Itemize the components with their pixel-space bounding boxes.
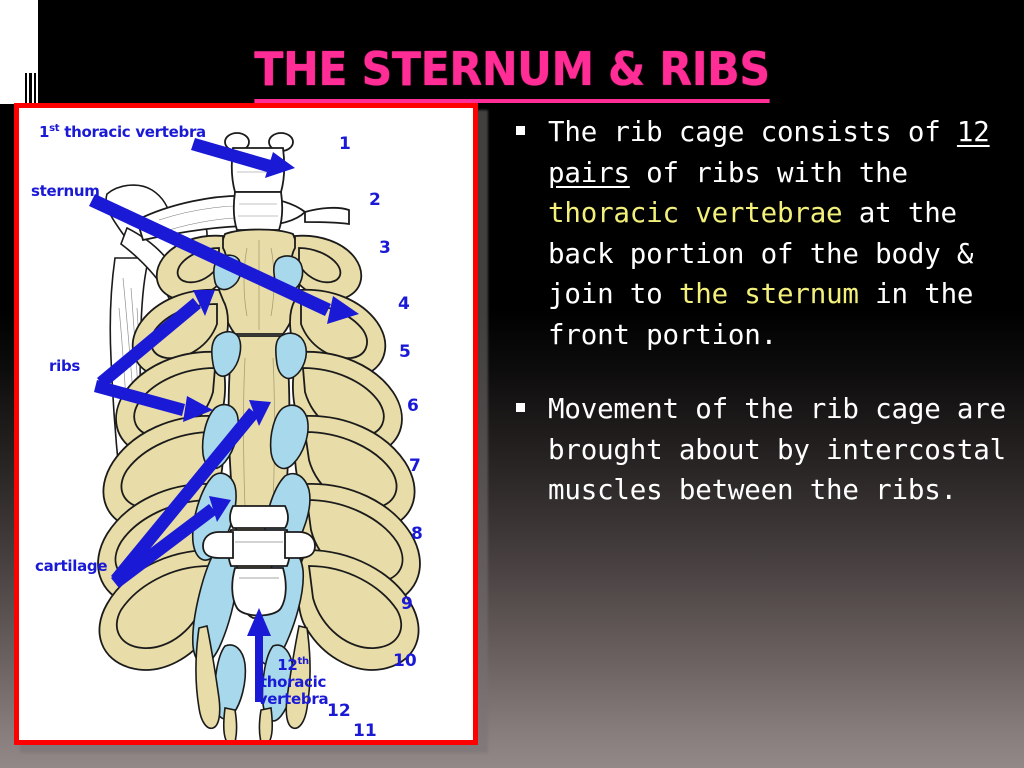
rib-number-4: 4 bbox=[398, 296, 410, 313]
bullet-text-1: The rib cage consists of 12 pairs of rib… bbox=[548, 112, 1012, 355]
rib-number-8: 8 bbox=[411, 526, 423, 543]
label-first-thoracic-vertebra: 1st thoracic vertebra bbox=[39, 120, 206, 141]
bullet-item-2: Movement of the rib cage are brought abo… bbox=[508, 389, 1012, 511]
rib-number-7: 7 bbox=[409, 458, 421, 475]
rib-number-6: 6 bbox=[407, 398, 419, 415]
label-twelfth-thoracic-vertebra: 12th thoracic vertebra bbox=[247, 653, 339, 708]
rib-number-1: 1 bbox=[339, 136, 351, 153]
seg-plain: The rib cage consists of bbox=[548, 116, 957, 148]
bullet-text-2: Movement of the rib cage are brought abo… bbox=[548, 389, 1012, 511]
seg-highlight-thoracic-vertebrae: thoracic vertebrae bbox=[548, 197, 842, 229]
seg-highlight-the-sternum: the sternum bbox=[679, 278, 859, 310]
rib-number-5: 5 bbox=[399, 344, 411, 361]
seg-plain: Movement of the rib cage are brought abo… bbox=[548, 393, 1006, 506]
label-sternum: sternum bbox=[31, 183, 100, 200]
rib-number-2: 2 bbox=[369, 192, 381, 209]
label-cartilage: cartilage bbox=[35, 558, 107, 575]
rib-number-10: 10 bbox=[393, 653, 417, 670]
rib-number-9: 9 bbox=[401, 596, 413, 613]
page-title: THE STERNUM & RIBS bbox=[36, 44, 988, 94]
bullet-square-icon bbox=[516, 403, 525, 412]
bullet-square-icon bbox=[516, 126, 525, 135]
rib-number-11: 11 bbox=[353, 723, 377, 740]
bullet-item-1: The rib cage consists of 12 pairs of rib… bbox=[508, 112, 1012, 355]
label-ribs: ribs bbox=[49, 358, 80, 375]
rib-number-3: 3 bbox=[379, 240, 391, 257]
figure-rib-cage-panel: 1st thoracic vertebra sternum ribs carti… bbox=[14, 103, 478, 745]
rib-cage-illustration bbox=[19, 108, 473, 740]
seg-plain: of ribs with the bbox=[630, 157, 908, 189]
content-body: The rib cage consists of 12 pairs of rib… bbox=[508, 112, 1012, 545]
page-title-text: THE STERNUM & RIBS bbox=[254, 42, 769, 103]
rib-number-12: 12 bbox=[327, 703, 351, 720]
slide-canvas: THE STERNUM & RIBS bbox=[0, 0, 1024, 768]
